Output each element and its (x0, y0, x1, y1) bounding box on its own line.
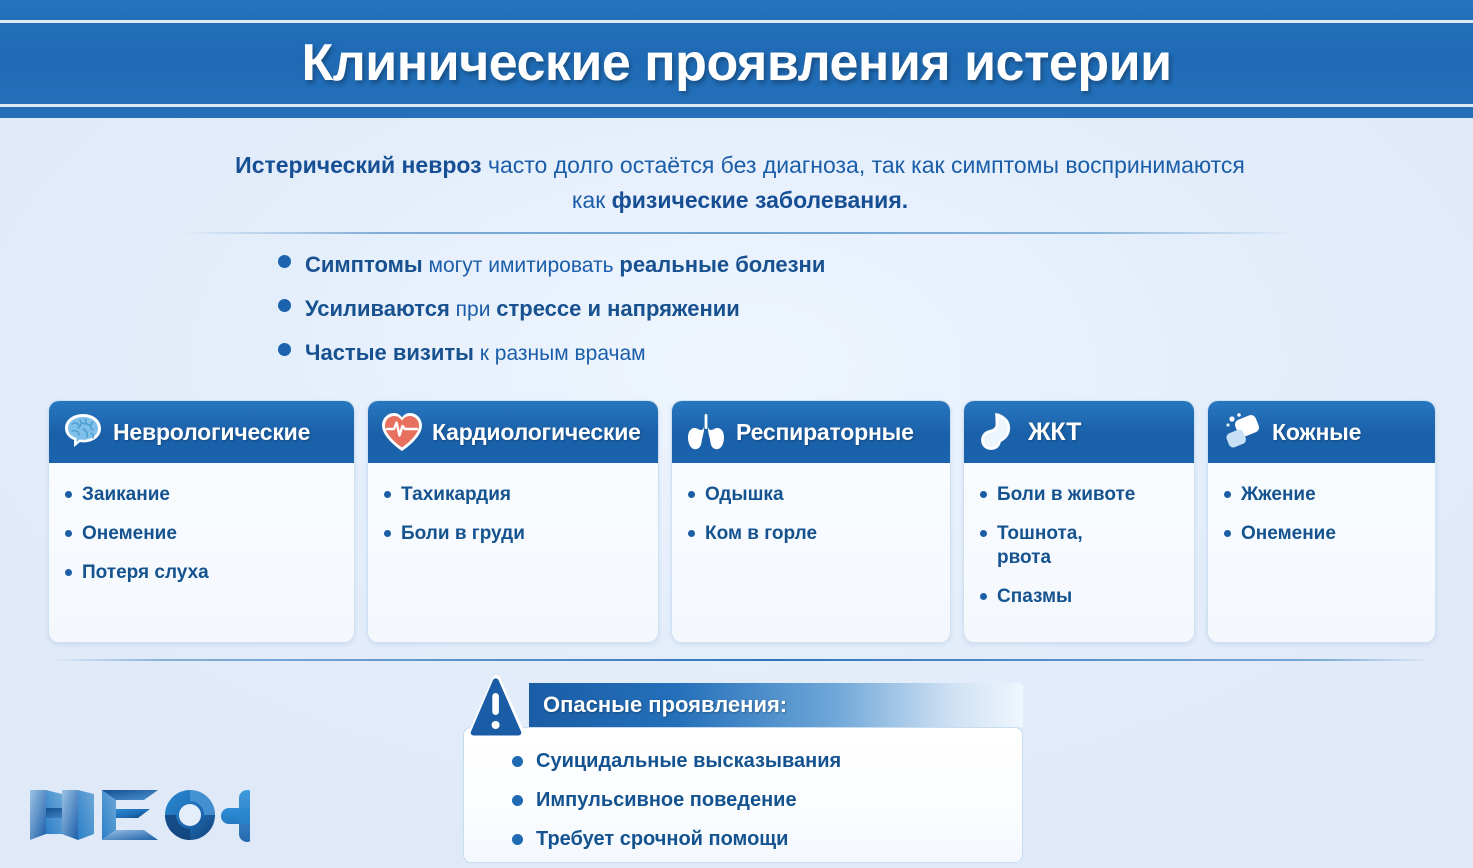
bullet-dot-icon (384, 530, 391, 537)
list-item: Жжение (1224, 483, 1423, 507)
divider-lower (52, 659, 1430, 661)
heart-pulse-icon (378, 408, 426, 456)
warning-item: Импульсивное поведение (512, 781, 1022, 820)
bullet-dot-icon (980, 491, 987, 498)
bullet-dot-icon (65, 491, 72, 498)
bullet-dot-icon (278, 255, 291, 268)
list-item-label: Ком в горле (705, 522, 817, 546)
list-item: Ком в горле (688, 522, 938, 546)
list-item-label: Тошнота, рвота (997, 522, 1127, 570)
card-cardiological-title: Кардиологические (432, 419, 641, 446)
key-point-1-plain: могут имитировать (423, 254, 620, 277)
list-item-label: Одышка (705, 483, 784, 507)
bullet-dot-icon (65, 530, 72, 537)
key-point-2-text: Усиливаются при стрессе и напряжении (305, 296, 740, 323)
card-respiratory-header: Респираторные (672, 401, 950, 463)
warning-items-list: Суицидальные высказывания Импульсивное п… (463, 727, 1023, 863)
list-item-label: Тахикардия (401, 483, 511, 507)
key-point-2-bold-tail: стрессе и напряжении (496, 296, 740, 321)
warning-item-label: Импульсивное поведение (536, 789, 797, 812)
bullet-dot-icon (384, 491, 391, 498)
card-respiratory-title: Респираторные (736, 419, 914, 446)
key-point-2: Усиливаются при стрессе и напряжении (278, 296, 1178, 340)
bullet-dot-icon (512, 834, 523, 845)
infographic-page: Клинические проявления истерии Истеричес… (0, 0, 1473, 868)
key-point-3-plain: к разным врачам (474, 342, 646, 365)
card-cardiological-items: Тахикардия Боли в груди (368, 463, 658, 642)
card-gastrointestinal-title: ЖКТ (1028, 418, 1081, 447)
card-skin-items: Жжение Онемение (1208, 463, 1435, 642)
card-respiratory-items: Одышка Ком в горле (672, 463, 950, 642)
card-neurological-items: Заикание Онемение Потеря слуха (49, 463, 354, 642)
list-item-label: Онемение (1241, 522, 1336, 546)
card-skin-title: Кожные (1272, 419, 1361, 446)
warning-item-label: Суицидальные высказывания (536, 750, 841, 773)
header-rule-top (0, 20, 1473, 23)
warning-triangle-icon (463, 673, 539, 739)
header-banner: Клинические проявления истерии (0, 0, 1473, 118)
warning-panel: Опасные проявления: Суицидальные высказы… (463, 673, 1023, 863)
warning-item: Суицидальные высказывания (512, 742, 1022, 781)
lungs-icon (682, 408, 730, 456)
list-item-label: Боли в животе (997, 483, 1135, 507)
warning-header-bar: Опасные проявления: (529, 683, 1023, 727)
intro-bold-term-2: физические заболевания. (612, 187, 908, 213)
list-item: Боли в груди (384, 522, 646, 546)
key-point-1-bold: Симптомы (305, 252, 423, 277)
key-point-3-bold: Частые визиты (305, 340, 474, 365)
bullet-dot-icon (688, 491, 695, 498)
list-item: Боли в животе (980, 483, 1182, 507)
stomach-icon (974, 408, 1022, 456)
brand-logo (26, 782, 250, 844)
list-item-label: Заикание (82, 483, 170, 507)
card-neurological-title: Неврологические (113, 419, 310, 446)
key-point-1-bold-tail: реальные болезни (619, 252, 825, 277)
key-point-3: Частые визиты к разным врачам (278, 340, 1178, 384)
list-item: Онемение (1224, 522, 1423, 546)
header-rule-bottom (0, 104, 1473, 107)
card-skin: Кожные Жжение Онемение (1207, 400, 1436, 643)
intro-bold-term: Истерический невроз (235, 152, 481, 178)
list-item: Спазмы (980, 585, 1182, 609)
key-point-1: Симптомы могут имитировать реальные боле… (278, 252, 1178, 296)
bullet-dot-icon (688, 530, 695, 537)
list-item: Одышка (688, 483, 938, 507)
intro-line-1: Истерический невроз часто долго остаётся… (235, 152, 1245, 178)
symptom-cards-row: Неврологические Заикание Онемение Потеря… (48, 400, 1426, 643)
intro-line-2: как физические заболевания. (572, 187, 908, 213)
divider-upper (180, 232, 1298, 234)
list-item: Тошнота, рвота (980, 522, 1182, 570)
bullet-dot-icon (278, 343, 291, 356)
bullet-dot-icon (512, 756, 523, 767)
list-item: Тахикардия (384, 483, 646, 507)
list-item: Потеря слуха (65, 561, 342, 585)
key-point-1-text: Симптомы могут имитировать реальные боле… (305, 252, 825, 279)
card-gastrointestinal-header: ЖКТ (964, 401, 1194, 463)
bullet-dot-icon (980, 530, 987, 537)
card-gastrointestinal: ЖКТ Боли в животе Тошнота, рвота Спазмы (963, 400, 1195, 643)
list-item-label: Боли в груди (401, 522, 525, 546)
list-item-label: Онемение (82, 522, 177, 546)
bullet-dot-icon (1224, 491, 1231, 498)
key-point-2-plain: при (450, 298, 496, 321)
card-respiratory: Респираторные Одышка Ком в горле (671, 400, 951, 643)
intro-paragraph: Истерический невроз часто долго остаётся… (185, 148, 1295, 218)
card-cardiological-header: Кардиологические (368, 401, 658, 463)
card-cardiological: Кардиологические Тахикардия Боли в груди (367, 400, 659, 643)
card-skin-header: Кожные (1208, 401, 1435, 463)
page-title: Клинические проявления истерии (0, 24, 1473, 102)
key-point-3-text: Частые визиты к разным врачам (305, 340, 646, 367)
list-item: Заикание (65, 483, 342, 507)
bullet-dot-icon (980, 593, 987, 600)
card-neurological: Неврологические Заикание Онемение Потеря… (48, 400, 355, 643)
list-item-label: Спазмы (997, 585, 1072, 609)
bullet-dot-icon (65, 569, 72, 576)
intro-line-2-lead: как (572, 187, 612, 213)
list-item: Онемение (65, 522, 342, 546)
key-point-2-bold: Усиливаются (305, 296, 450, 321)
bullet-dot-icon (1224, 530, 1231, 537)
bullet-dot-icon (278, 299, 291, 312)
list-item-label: Потеря слуха (82, 561, 209, 585)
warning-item-label: Требует срочной помощи (536, 828, 788, 851)
card-neurological-header: Неврологические (49, 401, 354, 463)
key-points-list: Симптомы могут имитировать реальные боле… (278, 252, 1178, 384)
list-item-label: Жжение (1241, 483, 1316, 507)
warning-title: Опасные проявления: (543, 692, 787, 718)
intro-line-1-rest: часто долго остаётся без диагноза, так к… (482, 152, 1245, 178)
brain-icon (59, 408, 107, 456)
card-gastrointestinal-items: Боли в животе Тошнота, рвота Спазмы (964, 463, 1194, 642)
skin-patch-icon (1218, 408, 1266, 456)
bullet-dot-icon (512, 795, 523, 806)
warning-item: Требует срочной помощи (512, 820, 1022, 859)
